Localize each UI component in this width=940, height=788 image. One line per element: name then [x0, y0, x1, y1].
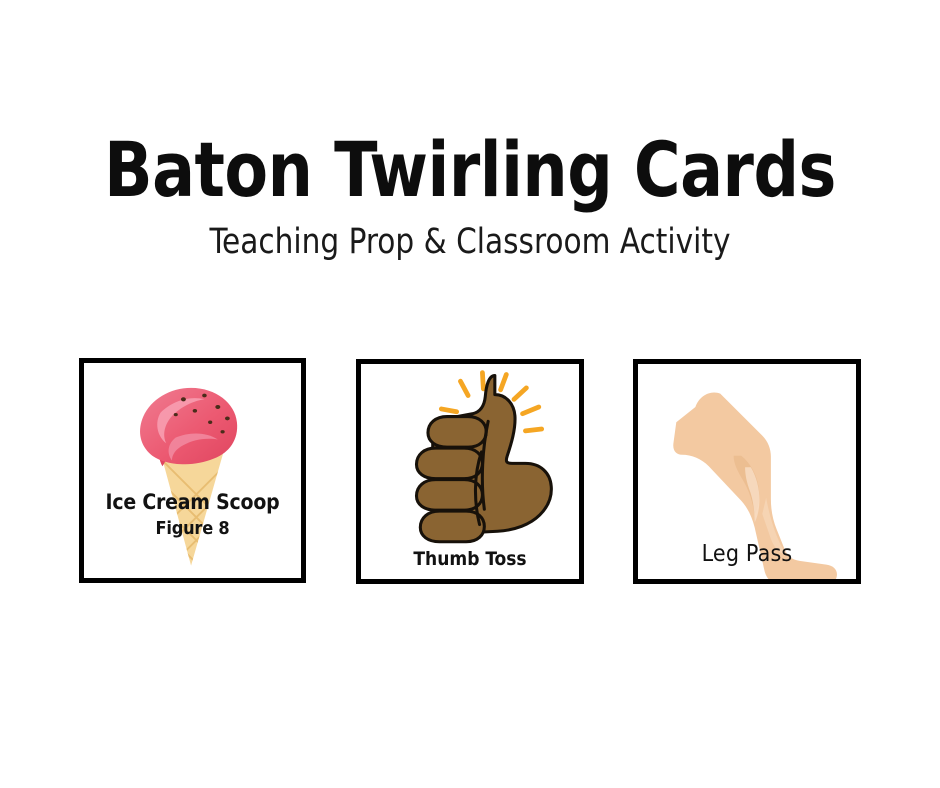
- card-leg-pass[interactable]: Leg Pass: [633, 359, 861, 584]
- card-label-leg-pass: Leg Pass: [638, 542, 856, 566]
- card-ice-cream-scoop[interactable]: Ice Cream Scoop Figure 8: [79, 358, 306, 583]
- thumbs-up-icon: [361, 364, 579, 579]
- card-label-thumb-toss: Thumb Toss: [361, 550, 579, 570]
- sparkle-rays: [441, 373, 541, 431]
- cards-row: Ice Cream Scoop Figure 8: [0, 0, 940, 788]
- card-thumb-toss[interactable]: Thumb Toss: [356, 359, 584, 584]
- card-sublabel-figure-8: Figure 8: [84, 520, 301, 539]
- card-label-ice-cream-scoop: Ice Cream Scoop: [84, 491, 301, 513]
- ice-cream-cone-icon: [84, 363, 301, 578]
- slide-canvas: Baton Twirling Cards Teaching Prop & Cla…: [0, 0, 940, 788]
